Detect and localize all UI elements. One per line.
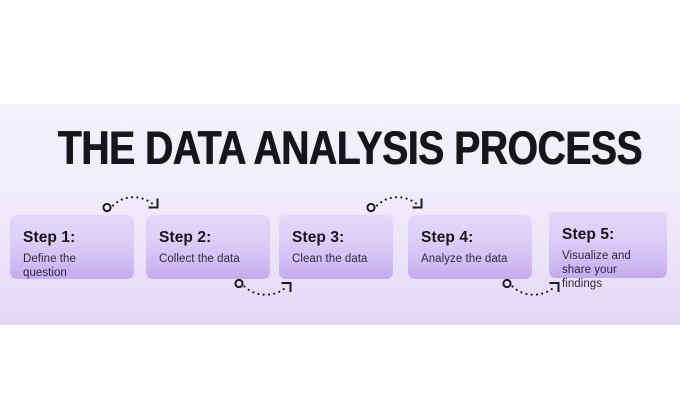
step-card-2-label: Step 2: (159, 229, 257, 246)
step-card-5-description: Visualize and share your findings (562, 249, 654, 291)
dotted-arrow-icon-step-3-to-4 (364, 192, 430, 218)
step-card-3-description: Clean the data (292, 252, 380, 266)
step-card-4-description: Analyze the data (421, 252, 519, 266)
infographic-canvas: THE DATA ANALYSIS PROCESS Step 1: Define… (0, 0, 680, 411)
step-card-3[interactable]: Step 3: Clean the data (279, 215, 393, 279)
dotted-arrow-icon-step-4-to-5 (500, 278, 566, 304)
step-card-1-label: Step 1: (23, 229, 121, 246)
step-card-5[interactable]: Step 5: Visualize and share your finding… (549, 212, 667, 278)
step-card-2-description: Collect the data (159, 252, 257, 266)
step-card-3-label: Step 3: (292, 229, 380, 246)
step-card-5-label: Step 5: (562, 226, 654, 243)
step-card-4-label: Step 4: (421, 229, 519, 246)
step-card-2[interactable]: Step 2: Collect the data (146, 215, 270, 279)
dotted-arrow-icon-step-1-to-2 (100, 192, 166, 218)
dotted-arrow-icon-step-2-to-3 (232, 278, 298, 304)
step-card-4[interactable]: Step 4: Analyze the data (408, 215, 532, 279)
step-card-1[interactable]: Step 1: Define the question (10, 215, 134, 279)
step-card-1-description: Define the question (23, 252, 121, 280)
